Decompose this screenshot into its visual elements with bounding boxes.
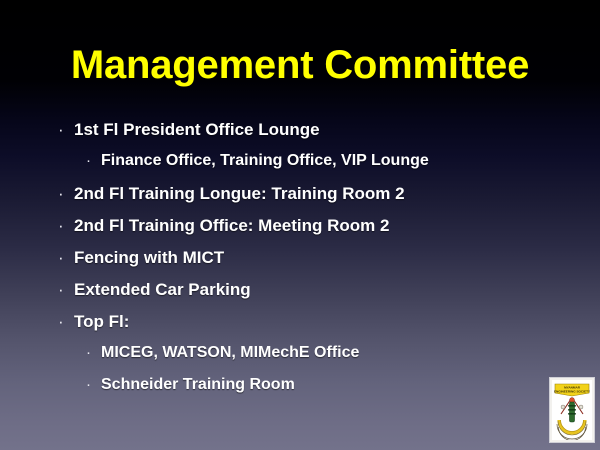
bullet-item: ·Schneider Training Room: [0, 376, 600, 408]
bullet-item: ·2nd Fl Training Longue: Training Room 2: [0, 184, 600, 216]
svg-text:ENGINEERING SOCIETY: ENGINEERING SOCIETY: [554, 389, 591, 393]
logo-emblem: MYANMAR ENGINEERING SOCIETY: [552, 380, 592, 440]
bullet-marker-icon: ·: [58, 281, 74, 298]
bullet-item: ·Finance Office, Training Office, VIP Lo…: [0, 152, 600, 184]
bullet-list: ·1st Fl President Office Lounge·Finance …: [0, 120, 600, 408]
bullet-item: ·2nd Fl Training Office: Meeting Room 2: [0, 216, 600, 248]
bullet-item: ·1st Fl President Office Lounge: [0, 120, 600, 152]
page-title: Management Committee: [0, 42, 600, 88]
bullet-marker-icon: ·: [86, 345, 101, 360]
bullet-marker-icon: ·: [58, 185, 74, 202]
bullet-text: Extended Car Parking: [74, 280, 251, 300]
bullet-text: 2nd Fl Training Longue: Training Room 2: [74, 184, 405, 204]
slide-canvas: Management Committee ·1st Fl President O…: [0, 0, 600, 450]
bullet-marker-icon: ·: [58, 249, 74, 266]
bullet-marker-icon: ·: [58, 217, 74, 234]
bullet-text: Fencing with MICT: [74, 248, 224, 268]
bullet-text: 2nd Fl Training Office: Meeting Room 2: [74, 216, 389, 236]
bullet-marker-icon: ·: [58, 313, 74, 330]
myanmar-engineering-society-logo: MYANMAR ENGINEERING SOCIETY: [549, 377, 595, 443]
bullet-text: Top Fl:: [74, 312, 129, 332]
bullet-marker-icon: ·: [86, 153, 101, 168]
logo-emblem-icon: MYANMAR ENGINEERING SOCIETY: [552, 380, 592, 440]
bullet-text: Schneider Training Room: [101, 376, 295, 394]
bullet-text: MICEG, WATSON, MIMechE Office: [101, 344, 359, 362]
bullet-item: ·Extended Car Parking: [0, 280, 600, 312]
bullet-item: ·MICEG, WATSON, MIMechE Office: [0, 344, 600, 376]
bullet-marker-icon: ·: [58, 121, 74, 138]
bullet-text: Finance Office, Training Office, VIP Lou…: [101, 152, 429, 170]
bullet-item: ·Fencing with MICT: [0, 248, 600, 280]
bullet-item: ·Top Fl:: [0, 312, 600, 344]
bullet-text: 1st Fl President Office Lounge: [74, 120, 320, 140]
bullet-marker-icon: ·: [86, 377, 101, 392]
